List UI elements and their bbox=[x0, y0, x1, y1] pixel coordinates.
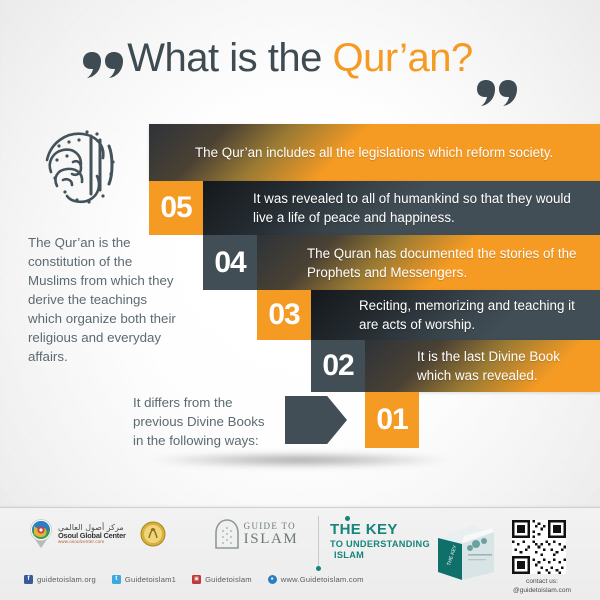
key-promo-text: THE KEY TO UNDERSTANDING ISLAM bbox=[330, 522, 430, 560]
page-title: What is the Qur’an? bbox=[127, 36, 473, 80]
facebook-icon: f bbox=[24, 575, 33, 584]
osoul-url[interactable]: www.osoulcenter.com bbox=[58, 540, 126, 544]
step-number-01: 01 bbox=[365, 392, 419, 448]
quote-close-icon bbox=[477, 78, 519, 108]
intro-paragraph: The Qur’an is the constitution of the Mu… bbox=[28, 233, 178, 366]
step-number-03-label: 03 bbox=[268, 298, 299, 332]
osoul-globe-icon bbox=[28, 518, 54, 550]
social-links: f guidetoislam.org t Guidetoislam1 ▣ Gui… bbox=[24, 575, 364, 584]
social-link-twitter[interactable]: t Guidetoislam1 bbox=[112, 575, 176, 584]
title-block: What is the Qur’an? bbox=[0, 36, 600, 80]
guide-to-islam-logo: GUIDE TO ISLAM bbox=[214, 519, 299, 549]
contact-line-2[interactable]: @guidetoislam.com bbox=[500, 586, 584, 595]
step-text-05: The Qur’an includes all the legislations… bbox=[195, 143, 553, 162]
step-bar-01: It is the last Divine Book which was rev… bbox=[365, 340, 600, 392]
footer-logos: مركز أصول العالمي Osoul Global Center ww… bbox=[28, 518, 298, 550]
gold-seal-logo-icon bbox=[140, 521, 166, 547]
social-label-instagram: Guidetoislam bbox=[205, 575, 252, 584]
step-text-04: It was revealed to all of humankind so t… bbox=[253, 189, 583, 227]
step-number-05-label: 05 bbox=[160, 191, 191, 225]
footer-bar: مركز أصول العالمي Osoul Global Center ww… bbox=[0, 507, 600, 600]
osoul-text: مركز أصول العالمي Osoul Global Center ww… bbox=[58, 524, 126, 544]
lead-in-paragraph: It differs from the previous Divine Book… bbox=[133, 393, 273, 450]
twitter-icon: t bbox=[112, 575, 121, 584]
instagram-icon: ▣ bbox=[192, 575, 201, 584]
title-accent-text: Qur’an? bbox=[332, 36, 472, 80]
social-link-instagram[interactable]: ▣ Guidetoislam bbox=[192, 575, 252, 584]
staircase-shadow bbox=[150, 452, 450, 468]
step-number-05: 05 bbox=[149, 181, 203, 235]
step-text-02: Reciting, memorizing and teaching it are… bbox=[359, 296, 594, 334]
lead-in-arrow-icon bbox=[285, 396, 347, 444]
contact-line-1: contact us: bbox=[500, 577, 584, 586]
guide-to-islam-text: GUIDE TO ISLAM bbox=[244, 522, 299, 547]
key-promo-block: THE KEY TO UNDERSTANDING ISLAM bbox=[330, 522, 430, 560]
social-link-facebook[interactable]: f guidetoislam.org bbox=[24, 575, 96, 584]
website-icon: ● bbox=[268, 575, 277, 584]
step-text-03: The Quran has documented the stories of … bbox=[307, 244, 592, 282]
key-promo-line-1: THE KEY bbox=[330, 522, 430, 537]
quran-calligraphy-emblem-icon bbox=[27, 116, 135, 220]
step-bar-04: It was revealed to all of humankind so t… bbox=[203, 181, 600, 235]
social-link-website[interactable]: ● www.Guidetoislam.com bbox=[268, 575, 364, 584]
footer-dot-bottom bbox=[316, 566, 321, 571]
gti-line-1: GUIDE TO bbox=[244, 522, 299, 531]
step-text-01: It is the last Divine Book which was rev… bbox=[417, 347, 597, 385]
step-number-04-label: 04 bbox=[214, 246, 245, 280]
mosque-arch-icon bbox=[214, 519, 240, 549]
gti-line-2: ISLAM bbox=[244, 532, 299, 547]
key-promo-line-2: TO UNDERSTANDING bbox=[330, 540, 430, 549]
step-number-03: 03 bbox=[257, 290, 311, 340]
osoul-global-center-logo: مركز أصول العالمي Osoul Global Center ww… bbox=[28, 518, 126, 550]
step-number-04: 04 bbox=[203, 235, 257, 290]
social-label-website: www.Guidetoislam.com bbox=[281, 575, 364, 584]
title-main-text: What is the bbox=[127, 36, 332, 80]
book-cover-image: THE KEY bbox=[432, 522, 498, 584]
contact-info: contact us: @guidetoislam.com bbox=[500, 577, 584, 595]
infographic-poster: What is the Qur’an? bbox=[0, 0, 600, 600]
social-label-facebook: guidetoislam.org bbox=[37, 575, 96, 584]
key-promo-line-3: ISLAM bbox=[330, 551, 430, 560]
social-label-twitter: Guidetoislam1 bbox=[125, 575, 176, 584]
quote-open-icon bbox=[83, 50, 125, 80]
footer-divider bbox=[318, 516, 319, 570]
qr-code[interactable] bbox=[512, 520, 566, 574]
step-bar-05: The Qur’an includes all the legislations… bbox=[149, 124, 600, 181]
step-number-01-label: 01 bbox=[376, 403, 407, 437]
step-bar-03: The Quran has documented the stories of … bbox=[257, 235, 600, 290]
step-bar-02: Reciting, memorizing and teaching it are… bbox=[311, 290, 600, 340]
step-number-02-label: 02 bbox=[322, 349, 353, 383]
step-number-02: 02 bbox=[311, 340, 365, 392]
